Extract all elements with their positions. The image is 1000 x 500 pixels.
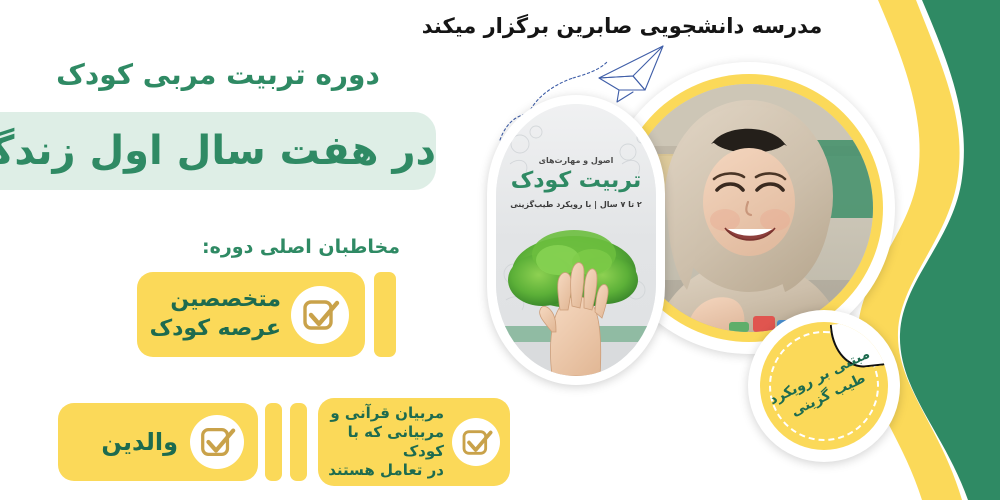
- course-banner: مدرسه دانشجویی صابرین برگزار میکند دوره …: [0, 0, 1000, 500]
- accent-bar-parents-2: [290, 403, 307, 481]
- green-wave-shape: [900, 0, 1000, 500]
- page-subtitle: در هفت سال اول زندگی: [0, 118, 436, 184]
- organizer-header: مدرسه دانشجویی صابرین برگزار میکند: [392, 14, 852, 38]
- book-subtitle-text: ۲ تا ۷ سال | با رویکرد طیب‌گزینی: [496, 200, 656, 209]
- page-title: دوره تربیت مربی کودک: [0, 58, 436, 91]
- checkbox-check-icon: [452, 418, 500, 466]
- accent-bar-specialists: [374, 272, 396, 357]
- checkbox-check-icon: [291, 286, 349, 344]
- audience-label-text: مخاطبان اصلی دوره:: [202, 236, 400, 258]
- sticker-inner-disc: مبتنی بر رویکرد طیب گزینی: [760, 322, 888, 450]
- audience-card-specialists[interactable]: متخصصین عرصه کودک: [137, 272, 365, 357]
- book-cover-inner: اصول و مهارت‌های تربیت کودک ۲ تا ۷ سال |…: [496, 104, 656, 376]
- book-eyebrow-text: اصول و مهارت‌های: [496, 156, 656, 165]
- sticker-text-group: مبتنی بر رویکرد طیب گزینی: [760, 322, 888, 450]
- book-cover: اصول و مهارت‌های تربیت کودک ۲ تا ۷ سال |…: [487, 95, 665, 385]
- audience-card-label: والدین: [101, 427, 178, 458]
- audience-card-label: متخصصین عرصه کودک: [150, 286, 281, 342]
- accent-bar-parents-1: [265, 403, 282, 481]
- audience-card-label: مربیان قرآنی و مربیانی که با کودک در تعا…: [326, 404, 444, 481]
- approach-sticker-badge: مبتنی بر رویکرد طیب گزینی: [748, 310, 900, 462]
- book-title-text: تربیت کودک: [496, 168, 656, 193]
- book-cover-artwork: [496, 104, 656, 376]
- checkbox-check-icon: [190, 415, 244, 469]
- audience-card-trainers[interactable]: مربیان قرآنی و مربیانی که با کودک در تعا…: [318, 398, 510, 486]
- audience-card-parents[interactable]: والدین: [58, 403, 258, 481]
